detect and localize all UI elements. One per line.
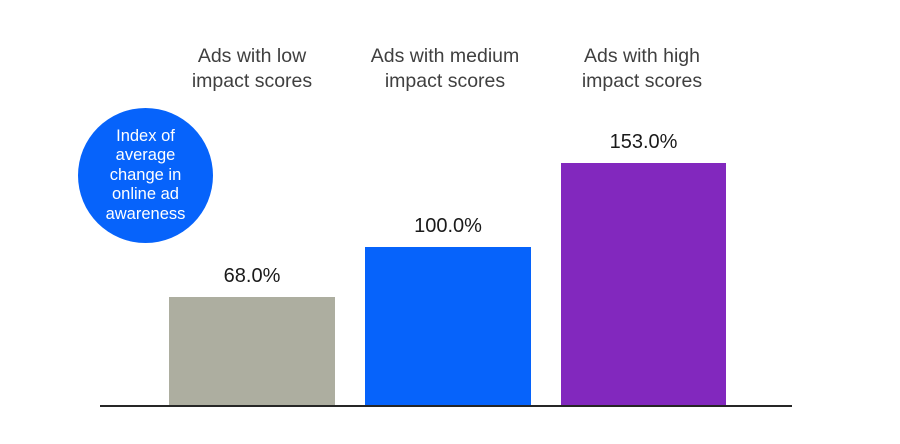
column-header-low: Ads with low impact scores [167, 44, 337, 94]
bar-value-high: 153.0% [561, 130, 726, 154]
bar-chart: Ads with low impact scores Ads with medi… [0, 0, 900, 444]
baseline-axis [100, 405, 792, 407]
y-axis-badge-label: Index of average change in online ad awa… [100, 127, 192, 225]
y-axis-badge: Index of average change in online ad awa… [78, 108, 213, 243]
bar-value-medium: 100.0% [365, 214, 531, 238]
bar-low [169, 297, 335, 405]
column-header-medium: Ads with medium impact scores [360, 44, 530, 94]
bar-value-low: 68.0% [169, 264, 335, 288]
bar-medium [365, 247, 531, 405]
bar-high [561, 163, 726, 405]
column-header-high: Ads with high impact scores [556, 44, 728, 94]
